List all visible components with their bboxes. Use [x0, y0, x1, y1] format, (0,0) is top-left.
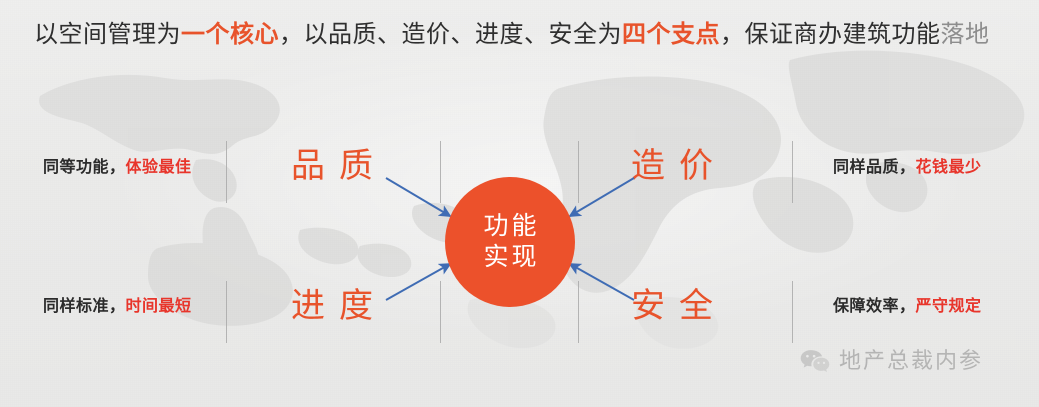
pillar-label-schedule: 进度	[291, 286, 387, 326]
note-top-right-accent: 花钱最少	[916, 159, 982, 176]
core-label-line-2: 实现	[480, 242, 539, 273]
divider-inner-right-bottom	[578, 281, 579, 343]
title-segment-tail: 落地	[941, 21, 990, 48]
note-bottom-right-accent: 严守规定	[916, 298, 982, 315]
core-label-line-1: 功能	[480, 211, 539, 242]
divider-inner-left-bottom	[440, 281, 441, 343]
slide-canvas: 以空间管理为一个核心，以品质、造价、进度、安全为四个支点，保证商办建筑功能落地 …	[0, 0, 1039, 407]
title-highlight-one-core: 一个核心	[181, 21, 279, 48]
arrow-cost-to-core	[570, 178, 634, 216]
note-top-right: 同样品质，花钱最少	[833, 158, 982, 178]
core-circle: 功能 实现	[445, 177, 575, 307]
note-bottom-right: 保障效率，严守规定	[833, 297, 982, 317]
note-bottom-right-plain: 保障效率，	[833, 298, 916, 315]
wechat-icon	[800, 349, 830, 373]
watermark: 地产总裁内参	[800, 348, 983, 374]
page-title: 以空间管理为一个核心，以品质、造价、进度、安全为四个支点，保证商办建筑功能落地	[34, 18, 990, 52]
title-segment-1: 以空间管理为	[34, 21, 181, 48]
pillar-label-cost: 造价	[631, 146, 727, 186]
title-highlight-four-pillars: 四个支点	[622, 21, 720, 48]
arrow-safety-to-core	[570, 264, 634, 300]
note-bottom-left: 同样标准，时间最短	[43, 297, 192, 317]
watermark-text: 地产总裁内参	[839, 348, 983, 374]
note-bottom-left-accent: 时间最短	[126, 298, 192, 315]
divider-right-top	[792, 141, 793, 203]
note-top-left-accent: 体验最佳	[126, 159, 192, 176]
divider-left-bottom	[226, 281, 227, 343]
divider-left-top	[226, 141, 227, 203]
title-segment-3: ，保证商办建筑功能	[720, 21, 941, 48]
note-top-right-plain: 同样品质，	[833, 159, 916, 176]
divider-inner-right-top	[578, 141, 579, 203]
divider-inner-left-top	[440, 141, 441, 203]
note-top-left-plain: 同等功能，	[43, 159, 126, 176]
pillar-label-quality: 品质	[291, 146, 387, 186]
title-segment-2: ，以品质、造价、进度、安全为	[279, 21, 622, 48]
divider-right-bottom	[792, 281, 793, 343]
pillar-label-safety: 安全	[631, 286, 727, 326]
note-bottom-left-plain: 同样标准，	[43, 298, 126, 315]
note-top-left: 同等功能，体验最佳	[43, 158, 192, 178]
